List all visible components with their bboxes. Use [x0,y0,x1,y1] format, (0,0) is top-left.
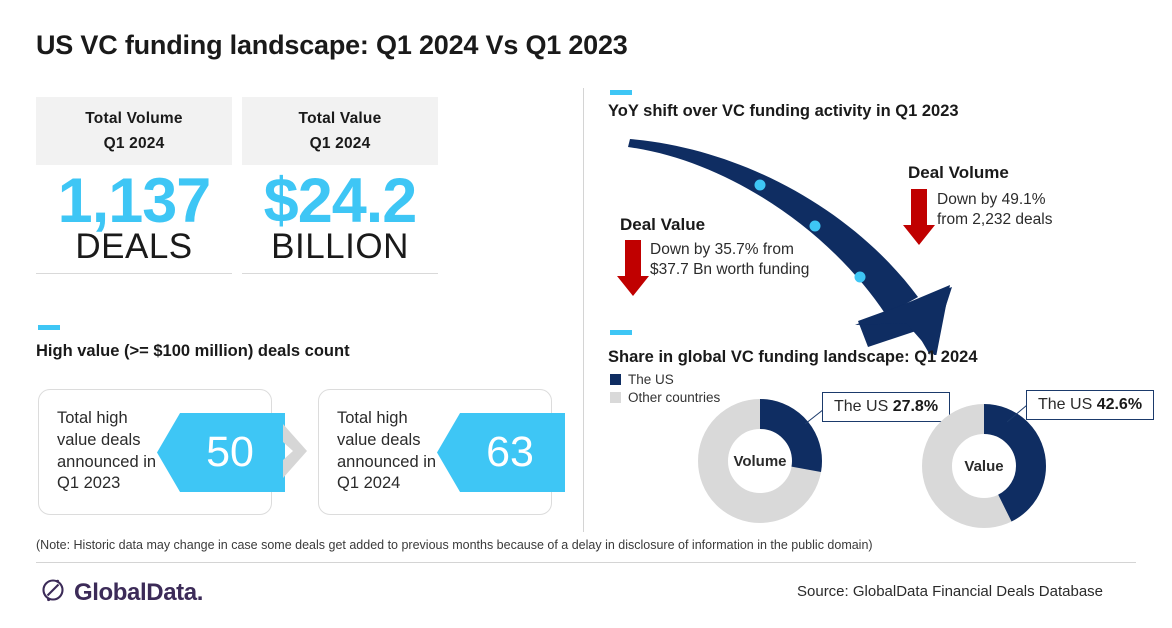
deal-volume-line1: Down by 49.1% [937,190,1052,210]
callout-value: 42.6% [1097,396,1142,413]
footnote: (Note: Historic data may change in case … [36,538,873,552]
kpi-card-total-volume: Total Volume Q1 2024 1,137 DEALS [36,97,232,274]
section-accent-tick [610,330,632,335]
kpi-underline [242,273,438,274]
callout-prefix: The US [1038,396,1097,413]
high-value-card-2023: Total high value deals announced in Q1 2… [38,389,272,515]
callout-prefix: The US [834,398,893,415]
deal-value-line1: Down by 35.7% from [650,240,809,260]
high-value-count-badge: 63 [437,413,565,492]
kpi-value: $24.2 [242,169,438,233]
legend-swatch-icon [610,374,621,385]
infographic-page: US VC funding landscape: Q1 2024 Vs Q1 2… [0,0,1172,628]
brand-logo: GlobalData. [40,577,203,608]
section-title-high-value: High value (>= $100 million) deals count [36,342,350,361]
kpi-header: Total Volume Q1 2024 [36,97,232,165]
section-accent-tick [38,325,60,330]
deal-volume-title: Deal Volume [908,163,1009,183]
kpi-header-line1: Total Value [299,110,382,128]
brand-name: GlobalData. [74,579,203,607]
deal-volume-detail: Down by 49.1% from 2,232 deals [937,190,1052,230]
section-title-share: Share in global VC funding landscape: Q1… [608,348,978,367]
deal-value-detail: Down by 35.7% from $37.7 Bn worth fundin… [650,240,809,280]
deal-volume-label: Deal Volume [908,163,1009,183]
down-arrow-icon [903,189,935,252]
legend-label: The US [628,372,674,387]
kpi-header: Total Value Q1 2024 [242,97,438,165]
footer-divider [36,562,1136,563]
high-value-count: 63 [468,431,534,474]
deal-volume-line2: from 2,232 deals [937,210,1052,230]
high-value-card-2024: Total high value deals announced in Q1 2… [318,389,552,515]
callout-value-share: The US 42.6% [1026,390,1154,420]
high-value-count: 50 [188,431,254,474]
deal-value-title: Deal Value [620,215,705,235]
kpi-header-line2: Q1 2024 [310,135,371,153]
kpi-card-total-value: Total Value Q1 2024 $24.2 BILLION [242,97,438,274]
chevron-right-icon [281,424,311,478]
high-value-card-text: Total high value deals announced in Q1 2… [57,408,167,495]
high-value-count-badge: 50 [157,413,285,492]
donut-center-label: Value [921,458,1047,475]
section-accent-tick [610,90,632,95]
source-text: Source: GlobalData Financial Deals Datab… [797,583,1103,600]
kpi-header-line1: Total Volume [85,110,182,128]
kpi-value: 1,137 [36,169,232,233]
deal-value-label: Deal Value [620,215,705,235]
donut-center-label: Volume [697,453,823,470]
kpi-header-line2: Q1 2024 [104,135,165,153]
legend-item-us: The US [610,372,720,387]
down-arrow-icon [617,240,649,303]
kpi-unit: BILLION [242,229,438,264]
kpi-underline [36,273,232,274]
high-value-card-text: Total high value deals announced in Q1 2… [337,408,447,495]
globaldata-logo-icon [40,577,66,608]
vertical-divider [583,88,584,532]
section-title-yoy: YoY shift over VC funding activity in Q1… [608,102,959,121]
deal-value-line2: $37.7 Bn worth funding [650,260,809,280]
legend-swatch-icon [610,392,621,403]
page-title: US VC funding landscape: Q1 2024 Vs Q1 2… [36,30,628,61]
